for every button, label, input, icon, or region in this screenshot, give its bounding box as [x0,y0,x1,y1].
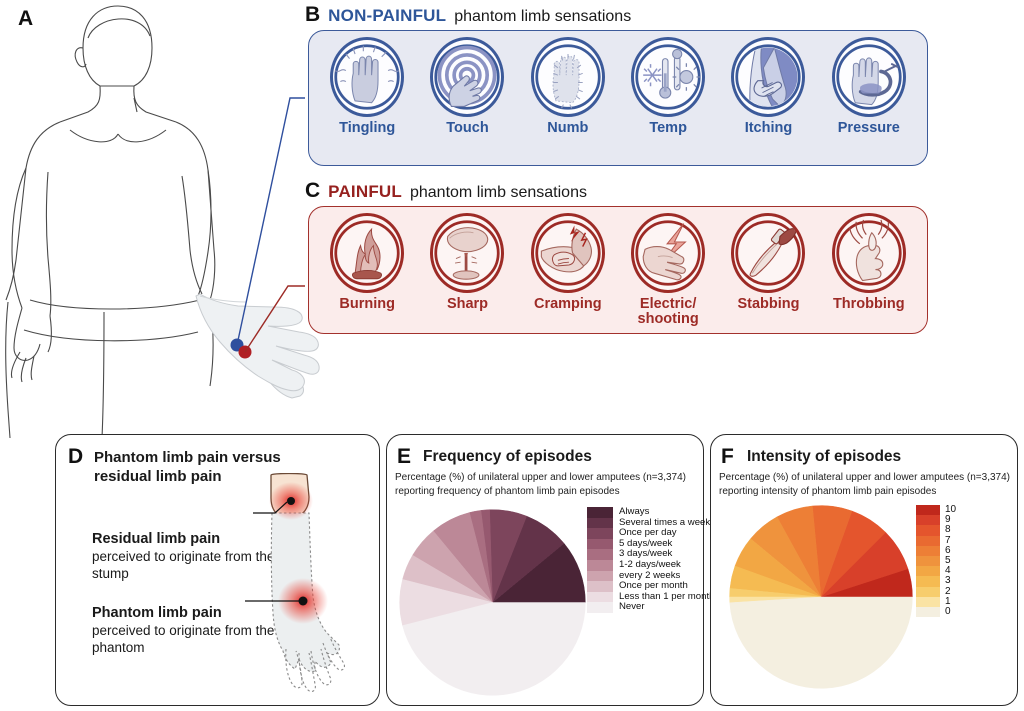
panel-c-icon-row: Burning Sharp [309,207,927,333]
throbbing-thumb-icon [832,213,906,293]
panel-c-keyword: PAINFUL [328,182,402,202]
panel-b-subtitle: phantom limb sensations [454,8,631,26]
numb-hand-icon [531,37,605,117]
colorbar-label: 3 [945,576,956,586]
panel-f-title: Intensity of episodes [747,448,901,466]
panel-b-header: B NON-PAINFUL phantom limb sensations [305,4,631,26]
colorbar-swatch [916,505,940,515]
sensation-item-throbbing[interactable]: Throbbing [821,213,917,312]
legend-swatch [587,581,613,592]
sensation-label: Cramping [534,297,602,312]
intensity-colorbar: 109876543210 [916,505,956,617]
cramping-arm-icon [531,213,605,293]
phantom-pain-dot [299,597,308,606]
panel-c-container: Burning Sharp [308,206,928,334]
panel-b-icon-row: Tingling Touch [309,31,927,165]
legend-swatch [587,507,613,518]
sensation-label: Numb [547,121,588,136]
sensation-label: Temp [649,121,687,136]
colorbar-swatch [916,546,940,556]
frequency-pie-svg [395,505,590,700]
sensation-item-numb[interactable]: Numb [520,37,616,136]
sensation-label: Burning [339,297,395,312]
legend-swatch [587,602,613,613]
panel-f-subtitle: Percentage (%) of unilateral upper and l… [719,471,1019,498]
panel-e-frequency-of-episodes: E Frequency of episodes Percentage (%) o… [386,434,704,706]
sensation-item-burning[interactable]: Burning [319,213,415,312]
clamp-hand-icon [832,37,906,117]
sensation-label: Tingling [339,121,395,136]
sensation-label-line2: shooting [638,311,699,327]
sensation-item-touch[interactable]: Touch [419,37,515,136]
pie-slice [730,597,913,688]
sensation-label-line1: Electric/ [640,296,696,312]
panel-f-letter: F [721,446,734,467]
residual-pain-dot [287,497,295,505]
panel-d-phantom-vs-residual: D Phantom limb pain versus residual limb… [55,434,380,706]
colorbar-swatch [916,525,940,535]
legend-swatch [587,592,613,603]
panel-c-subtitle: phantom limb sensations [410,184,587,202]
legend-label: Always [619,507,714,518]
knife-icon [731,213,805,293]
colorbar-swatch [916,515,940,525]
legend-swatch [587,518,613,529]
legend-swatch [587,560,613,571]
scratching-arm-icon [731,37,805,117]
intensity-colorbar-strip [916,505,940,617]
thermometer-snowflake-sun-icon [631,37,705,117]
sensation-label: Pressure [838,121,900,136]
human-body-outline-illustration [0,0,320,440]
colorbar-swatch [916,576,940,586]
panel-e-title: Frequency of episodes [423,448,592,466]
colorbar-swatch [916,597,940,607]
panel-b-container: Tingling Touch [308,30,928,166]
panel-e-subtitle: Percentage (%) of unilateral upper and l… [395,471,695,498]
flame-icon [330,213,404,293]
nail-finger-icon [430,213,504,293]
sensation-item-tingling[interactable]: Tingling [319,37,415,136]
panel-e-letter: E [397,446,411,467]
intensity-pie-chart [725,501,917,698]
panel-b-letter: B [305,4,320,25]
frequency-legend: AlwaysSeveral times a weekOnce per day5 … [587,507,714,613]
sensation-item-temp[interactable]: Temp [620,37,716,136]
panel-d-letter: D [68,446,83,467]
panel-c-header: C PAINFUL phantom limb sensations [305,180,587,202]
sensation-label: Touch [446,121,488,136]
panel-c-letter: C [305,180,320,201]
sensation-item-itching[interactable]: Itching [720,37,816,136]
colorbar-swatch [916,536,940,546]
intensity-pie-svg [725,501,917,693]
panel-f-intensity-of-episodes: F Intensity of episodes Percentage (%) o… [710,434,1018,706]
legend-swatch [587,549,613,560]
panel-b-nonpainful-sensations: B NON-PAINFUL phantom limb sensations [305,4,935,168]
colorbar-swatch [916,556,940,566]
colorbar-swatch [916,566,940,576]
sensation-label: Electric/ shooting [638,297,699,327]
legend-swatch [587,571,613,582]
colorbar-swatch [916,587,940,597]
legend-swatch [587,528,613,539]
frequency-legend-swatches [587,507,613,613]
touch-ripple-icon [430,37,504,117]
colorbar-swatch [916,607,940,617]
sensation-label: Itching [745,121,793,136]
sensation-item-stabbing[interactable]: Stabbing [720,213,816,312]
residual-limb-with-phantom-hand-illustration [241,473,376,695]
sensation-label: Throbbing [833,297,905,312]
legend-label: Never [619,602,714,613]
colorbar-label: 0 [945,607,956,617]
sensation-label: Stabbing [737,297,799,312]
sensation-item-sharp[interactable]: Sharp [419,213,515,312]
legend-label: 1-2 days/week [619,560,714,571]
sensation-item-electric-shooting[interactable]: Electric/ shooting [620,213,716,327]
legend-swatch [587,539,613,550]
sensation-label: Sharp [447,297,488,312]
sensation-item-pressure[interactable]: Pressure [821,37,917,136]
panel-c-painful-sensations: C PAINFUL phantom limb sensations Burnin… [305,180,935,360]
panel-a-body-diagram: A [0,0,320,440]
frequency-pie-chart [395,505,590,705]
tingling-hand-icon [330,37,404,117]
lightning-hand-icon [631,213,705,293]
intensity-colorbar-labels: 109876543210 [945,505,956,617]
sensation-item-cramping[interactable]: Cramping [520,213,616,312]
frequency-legend-labels: AlwaysSeveral times a weekOnce per day5 … [619,507,714,613]
panel-b-keyword: NON-PAINFUL [328,6,446,26]
